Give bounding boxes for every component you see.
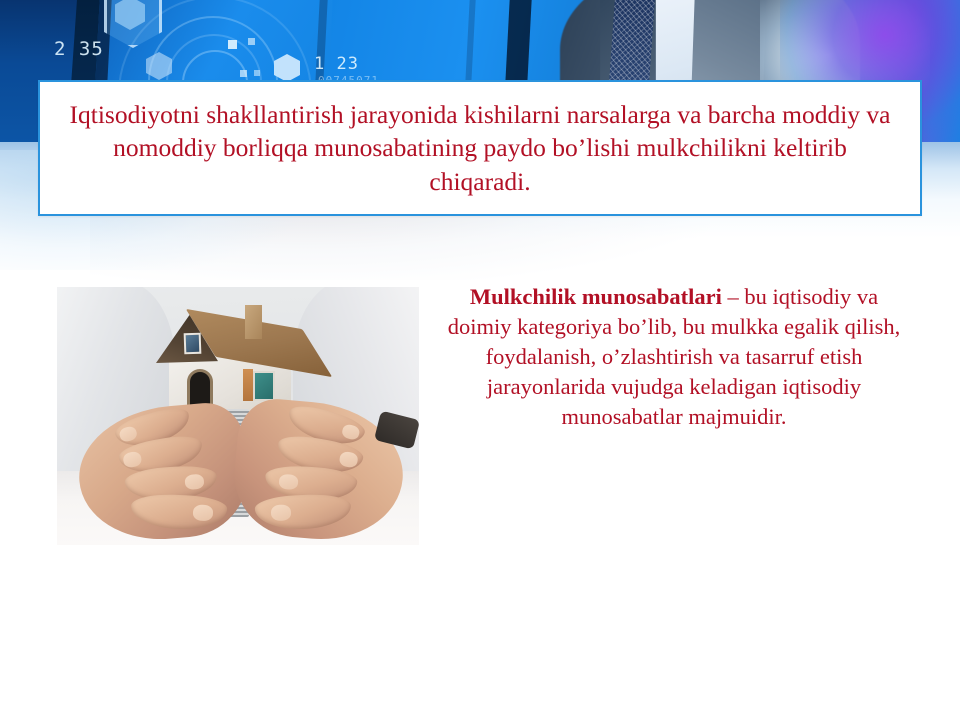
hud-square-4 (254, 70, 260, 76)
hud-square-1 (228, 40, 237, 49)
photo-house-shutter (243, 369, 253, 401)
body-term: Mulkchilik munosabatlari (470, 284, 722, 309)
photo-nail-r1 (341, 423, 361, 441)
photo-house-window-attic (184, 333, 202, 355)
hud-square-2 (248, 38, 255, 45)
hud-square-3 (240, 70, 247, 77)
photo-hands-house-coins (57, 287, 419, 545)
body-text-block: Mulkchilik munosabatlari – bu iqtisodiy … (440, 282, 908, 432)
hexagon-inner-icon (115, 0, 145, 30)
photo-nail-l4 (193, 504, 214, 521)
photo-nail-l2 (122, 451, 142, 469)
hud-number-1: 2 35 (54, 38, 104, 60)
header-text: Iqtisodiyotni shakllantirish jarayonida … (40, 98, 920, 197)
header-text-box: Iqtisodiyotni shakllantirish jarayonida … (38, 80, 922, 216)
photo-house-window-side (253, 371, 275, 401)
presentation-slide: 2 35 1 23 00745071 Iqtisodiyotni shaklla… (0, 0, 960, 720)
photo-house-chimney (245, 305, 262, 339)
photo-nail-r2 (338, 451, 358, 469)
photo-nail-r4 (271, 504, 292, 521)
photo-nail-l3 (184, 474, 204, 490)
hud-number-2: 1 23 (314, 54, 359, 74)
photo-nail-r3 (279, 474, 299, 490)
photo-nail-l1 (118, 425, 138, 443)
